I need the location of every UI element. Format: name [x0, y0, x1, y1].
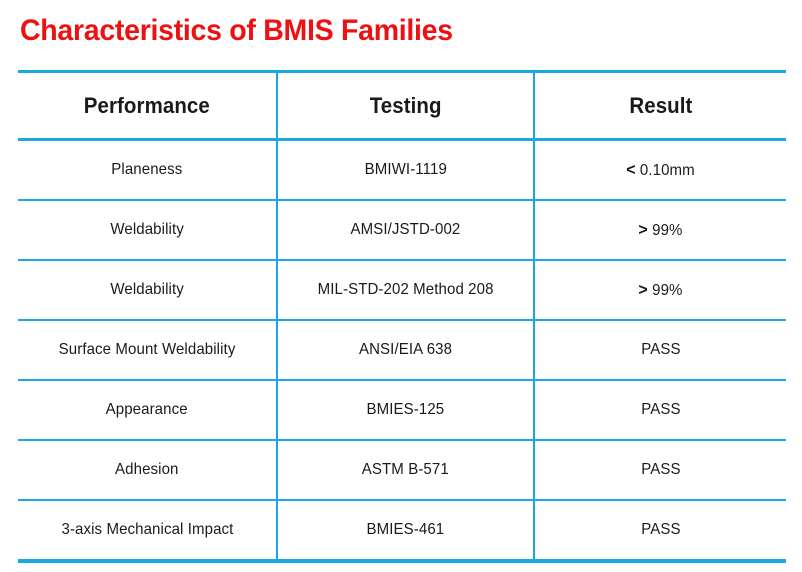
cell-result-group: > 99% — [638, 280, 682, 300]
cell-testing: BMIWI-1119 — [277, 140, 534, 201]
cell-performance: 3-axis Mechanical Impact — [18, 500, 277, 561]
cell-result-value: 0.10mm — [640, 162, 695, 179]
cell-result-value: PASS — [641, 461, 680, 479]
column-header-result-label: Result — [629, 93, 692, 119]
cell-performance: Weldability — [18, 200, 277, 260]
cell-result-group: < 0.10mm — [626, 160, 695, 180]
cell-testing: BMIES-461 — [277, 500, 534, 561]
cell-testing-label: AMSI/JSTD-002 — [351, 221, 461, 239]
header-row: Performance Testing Result — [18, 72, 786, 140]
cell-result-value: PASS — [641, 521, 680, 539]
cell-result-value: PASS — [641, 401, 680, 419]
table-row: Adhesion ASTM B-571 PASS — [18, 440, 786, 500]
table-header: Performance Testing Result — [18, 72, 786, 140]
cell-performance: Adhesion — [18, 440, 277, 500]
cell-result-value: 99% — [652, 222, 682, 239]
cell-performance-label: 3-axis Mechanical Impact — [61, 521, 233, 539]
document-page: Characteristics of BMIS Families Perform… — [0, 0, 802, 572]
cell-testing: ASTM B-571 — [277, 440, 534, 500]
table-row: Planeness BMIWI-1119 < 0.10mm — [18, 140, 786, 201]
table-row: Weldability AMSI/JSTD-002 > 99% — [18, 200, 786, 260]
table-body: Planeness BMIWI-1119 < 0.10mm Weldabilit… — [18, 140, 786, 562]
cell-testing: BMIES-125 — [277, 380, 534, 440]
cell-result: PASS — [534, 380, 786, 440]
cell-result: PASS — [534, 440, 786, 500]
table-row: Surface Mount Weldability ANSI/EIA 638 P… — [18, 320, 786, 380]
characteristics-table: Performance Testing Result Planeness — [18, 70, 786, 563]
cell-result: PASS — [534, 320, 786, 380]
column-header-result: Result — [534, 72, 786, 140]
cell-result-operator: > — [638, 280, 647, 299]
cell-performance-label: Planeness — [111, 161, 182, 179]
column-header-testing: Testing — [277, 72, 534, 140]
cell-testing-label: BMIWI-1119 — [364, 161, 446, 179]
cell-performance-label: Surface Mount Weldability — [59, 341, 236, 359]
cell-performance: Planeness — [18, 140, 277, 201]
column-header-testing-label: Testing — [370, 93, 442, 119]
cell-result-operator: > — [638, 220, 647, 239]
cell-result: > 99% — [534, 260, 786, 320]
cell-result: > 99% — [534, 200, 786, 260]
table-row: Weldability MIL-STD-202 Method 208 > 99% — [18, 260, 786, 320]
cell-performance-label: Weldability — [110, 221, 183, 239]
cell-result-operator: < — [626, 160, 635, 179]
cell-result-value: PASS — [641, 341, 680, 359]
cell-testing: MIL-STD-202 Method 208 — [277, 260, 534, 320]
cell-result: PASS — [534, 500, 786, 561]
cell-testing-label: MIL-STD-202 Method 208 — [318, 281, 494, 299]
cell-testing: ANSI/EIA 638 — [277, 320, 534, 380]
characteristics-table-container: Performance Testing Result Planeness — [18, 70, 786, 563]
page-title: Characteristics of BMIS Families — [20, 13, 453, 49]
cell-performance-label: Appearance — [106, 401, 188, 419]
cell-result-value: 99% — [652, 282, 682, 299]
cell-result: < 0.10mm — [534, 140, 786, 201]
cell-performance-label: Adhesion — [115, 461, 178, 479]
cell-performance: Appearance — [18, 380, 277, 440]
cell-result-group: > 99% — [638, 220, 682, 240]
cell-testing: AMSI/JSTD-002 — [277, 200, 534, 260]
cell-performance: Weldability — [18, 260, 277, 320]
column-header-performance: Performance — [18, 72, 277, 140]
table-row: Appearance BMIES-125 PASS — [18, 380, 786, 440]
cell-testing-label: BMIES-461 — [367, 521, 445, 539]
cell-testing-label: ANSI/EIA 638 — [359, 341, 452, 359]
cell-performance: Surface Mount Weldability — [18, 320, 277, 380]
cell-testing-label: BMIES-125 — [367, 401, 445, 419]
cell-testing-label: ASTM B-571 — [362, 461, 449, 479]
cell-performance-label: Weldability — [110, 281, 183, 299]
table-row: 3-axis Mechanical Impact BMIES-461 PASS — [18, 500, 786, 561]
column-header-performance-label: Performance — [84, 93, 210, 119]
